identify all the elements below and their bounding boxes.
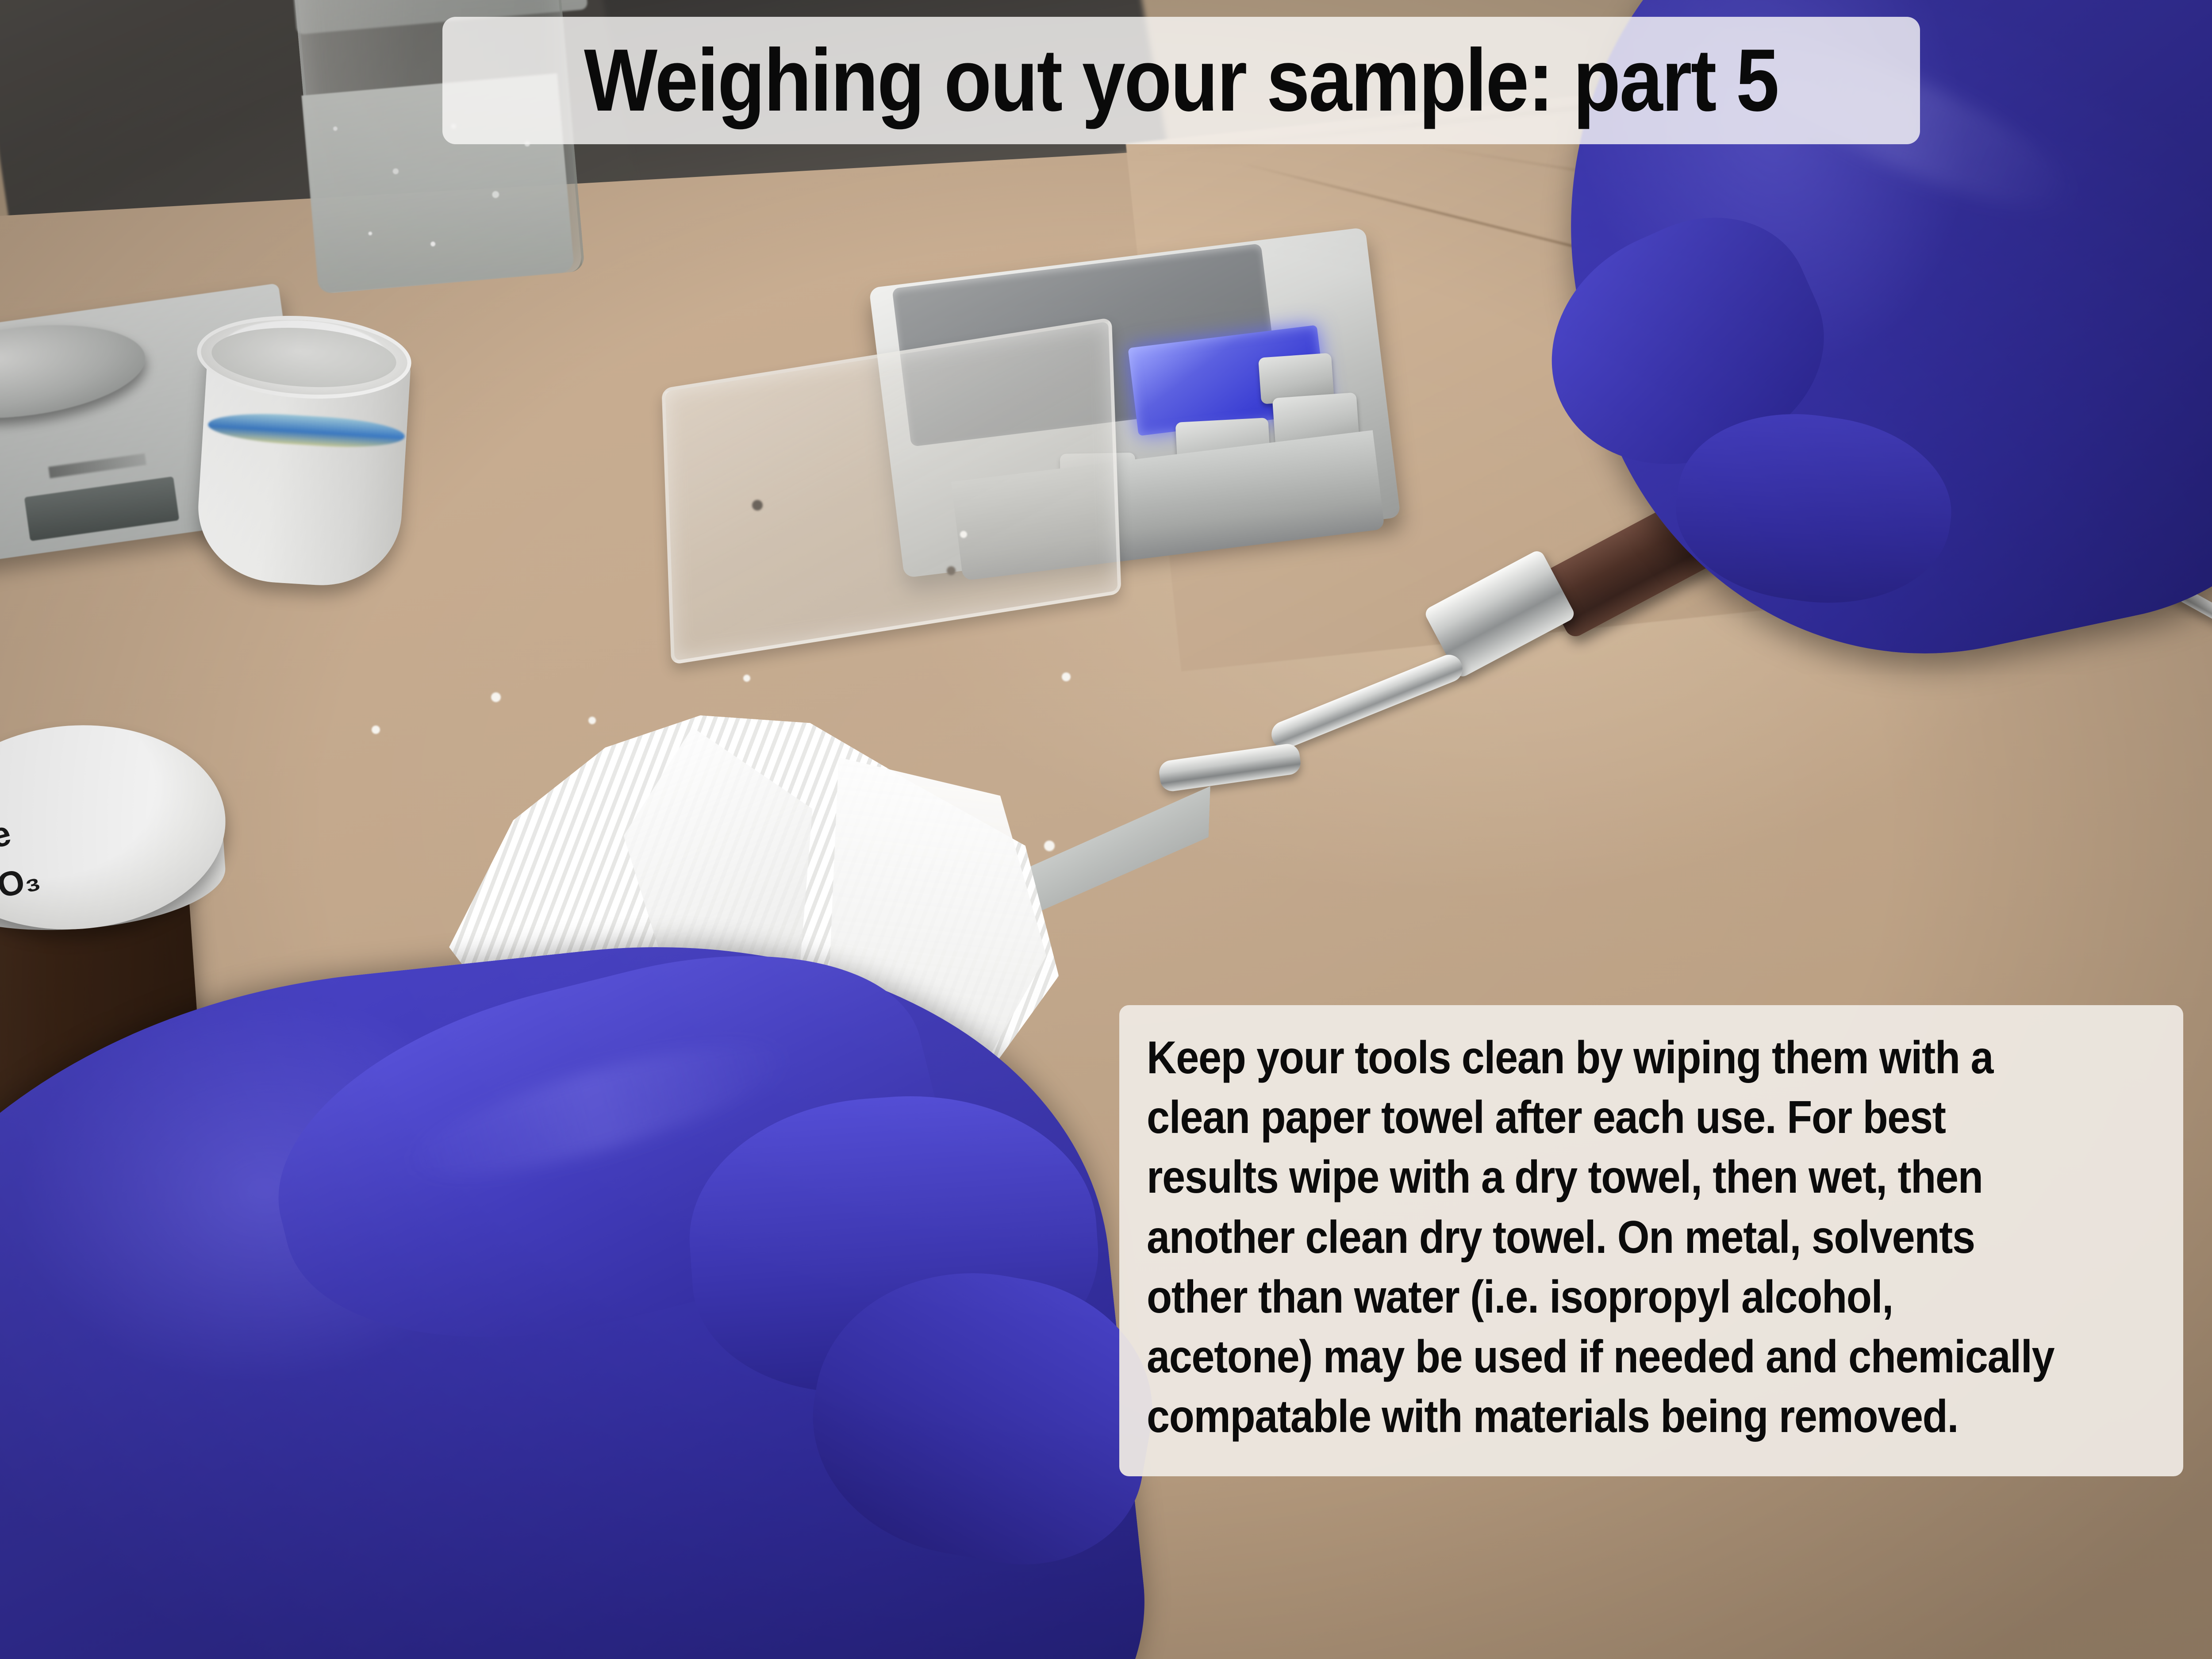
page-title: Weighing out your sample: part 5 — [584, 36, 1778, 125]
powder-speck — [588, 717, 596, 724]
caption-text: Keep your tools clean by wiping them wit… — [1147, 1028, 2057, 1447]
slide-canvas: se de ₂O₃ Bo — [0, 0, 2212, 1659]
caption-panel: Keep your tools clean by wiping them wit… — [1119, 1005, 2183, 1476]
lid-debris-speck — [947, 566, 956, 575]
powder-speck — [491, 692, 501, 702]
powder-speck — [743, 675, 750, 682]
slide-title-banner: Weighing out your sample: part 5 — [442, 17, 1920, 144]
powder-speck — [1044, 841, 1055, 851]
powder-speck — [372, 726, 380, 734]
lid-debris-speck — [960, 531, 967, 538]
lid-debris-speck — [752, 500, 763, 511]
powder-speck — [1062, 672, 1071, 681]
